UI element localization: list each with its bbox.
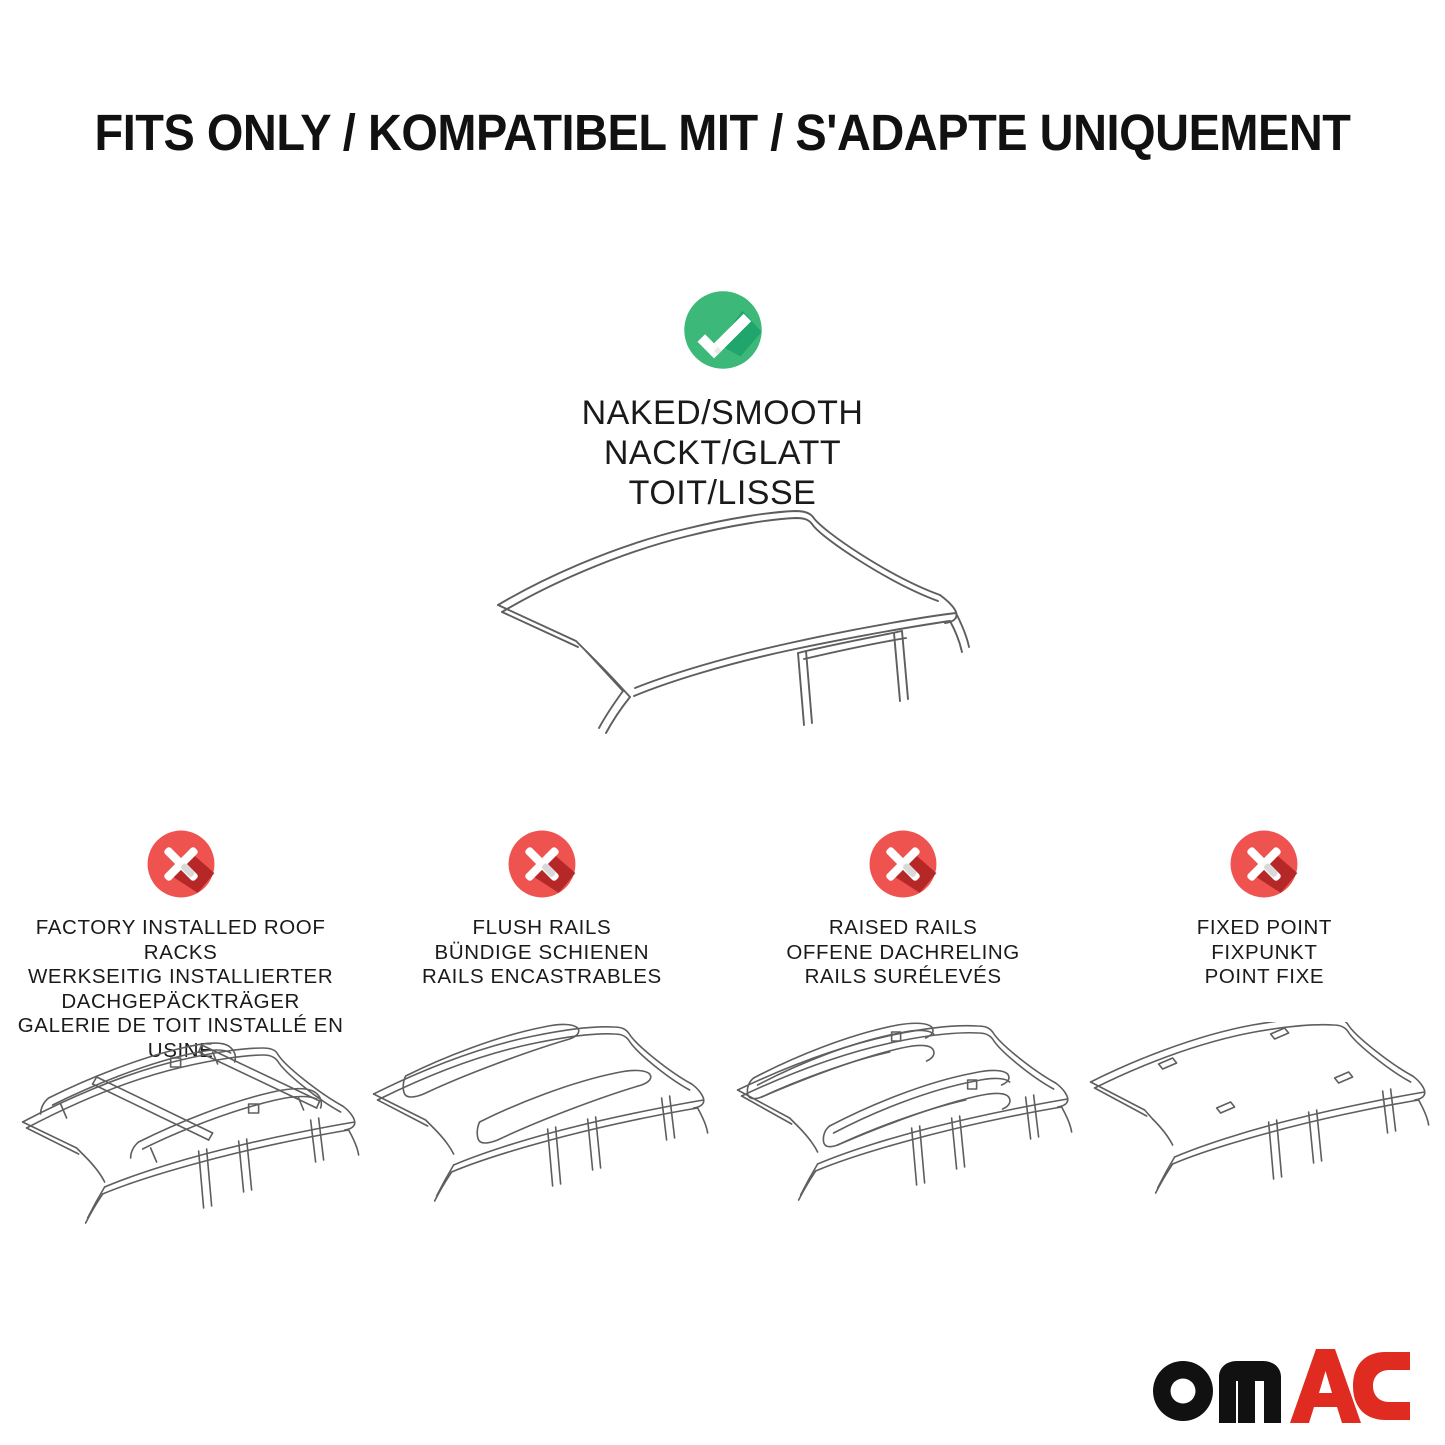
incompatible-label-de: FIXPUNKT (1084, 941, 1445, 966)
check-circle-icon (679, 286, 767, 374)
incompatible-label-de-1: WERKSEITIG INSTALLIERTER (6, 965, 355, 990)
incompatible-label-de-2: DACHGEPÄCKTRÄGER (6, 990, 355, 1015)
omac-logo (1145, 1349, 1410, 1423)
incompatible-label-fr: POINT FIXE (1084, 965, 1445, 990)
page-title: FITS ONLY / KOMPATIBEL MIT / S'ADAPTE UN… (58, 103, 1387, 162)
x-circle-icon (504, 826, 580, 902)
fixed-point-illustration (1084, 1022, 1445, 1247)
compatible-section: NAKED/SMOOTH NACKT/GLATT TOIT/LISSE (0, 286, 1445, 513)
x-circle-icon (1226, 826, 1302, 902)
incompatible-label-en: FLUSH RAILS (361, 916, 722, 941)
logo-letter-c (1353, 1352, 1410, 1420)
incompatible-illustrations-row (0, 1022, 1445, 1247)
factory-roof-rack-illustration (0, 1022, 361, 1247)
x-circle-icon (865, 826, 941, 902)
logo-letter-a (1290, 1349, 1361, 1423)
incompatible-labels: FLUSH RAILS BÜNDIGE SCHIENEN RAILS ENCAS… (361, 916, 722, 990)
flush-rails-illustration (361, 1022, 722, 1247)
compatibility-infographic: FITS ONLY / KOMPATIBEL MIT / S'ADAPTE UN… (0, 0, 1445, 1445)
x-circle-icon (143, 826, 219, 902)
incompatible-label-fr: RAILS ENCASTRABLES (361, 965, 722, 990)
raised-rails-illustration (723, 1022, 1084, 1247)
logo-letter-m (1219, 1361, 1281, 1423)
naked-smooth-roof-illustration (470, 485, 990, 755)
incompatible-label-en: RAISED RAILS (723, 916, 1084, 941)
incompatible-label-en: FIXED POINT (1084, 916, 1445, 941)
incompatible-label-de: BÜNDIGE SCHIENEN (361, 941, 722, 966)
logo-letter-o (1153, 1361, 1213, 1421)
incompatible-labels: RAISED RAILS OFFENE DACHRELING RAILS SUR… (723, 916, 1084, 990)
compatible-label-en: NAKED/SMOOTH (0, 393, 1445, 433)
incompatible-label-en: FACTORY INSTALLED ROOF RACKS (6, 916, 355, 965)
incompatible-label-de: OFFENE DACHRELING (723, 941, 1084, 966)
incompatible-label-fr: RAILS SURÉLEVÉS (723, 965, 1084, 990)
incompatible-labels: FIXED POINT FIXPUNKT POINT FIXE (1084, 916, 1445, 990)
compatible-label-de: NACKT/GLATT (0, 433, 1445, 473)
